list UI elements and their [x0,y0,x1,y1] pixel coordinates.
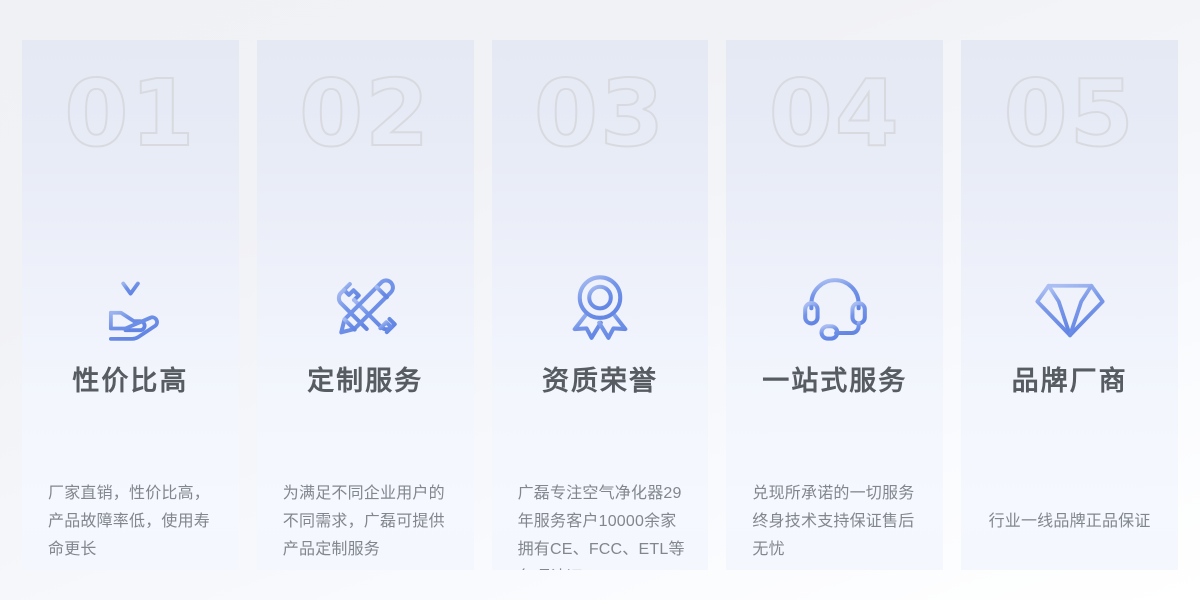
feature-cards-row: 01 [22,40,1178,570]
card-description: 厂家直销，性价比高，产品故障率低，使用寿命更长 [48,480,217,564]
card-title: 一站式服务 [726,365,943,399]
card-title: 资质荣誉 [492,365,709,399]
feature-card-3[interactable]: 03 [492,40,709,570]
card-number-badge: 05 [961,68,1178,160]
hand-holding-yuan-icon [22,258,239,354]
feature-card-5[interactable]: 05 [961,40,1178,570]
card-description: 广磊专注空气净化器29年服务客户10000余家拥有CE、FCC、ETL等各项认证 [518,480,687,570]
card-description: 兑现所承诺的一切服务终身技术支持保证售后无忧 [752,480,921,564]
card-title: 性价比高 [22,365,239,399]
card-number-badge: 01 [22,68,239,160]
card-title: 定制服务 [257,365,474,399]
card-description: 为满足不同企业用户的不同需求，广磊可提供产品定制服务 [283,480,452,564]
card-number-badge: 02 [257,68,474,160]
award-ribbon-icon [492,258,709,354]
card-title: 品牌厂商 [961,365,1178,399]
feature-card-4[interactable]: 04 [726,40,943,570]
card-number-badge: 03 [492,68,709,160]
feature-card-1[interactable]: 01 [22,40,239,570]
diamond-brand-icon [961,258,1178,354]
features-section: 01 [0,0,1200,600]
pen-wrench-customize-icon [257,258,474,354]
feature-card-2[interactable]: 02 [257,40,474,570]
card-number-badge: 04 [726,68,943,160]
headset-support-icon [726,258,943,354]
card-description: 行业一线品牌正品保证 [977,508,1162,536]
